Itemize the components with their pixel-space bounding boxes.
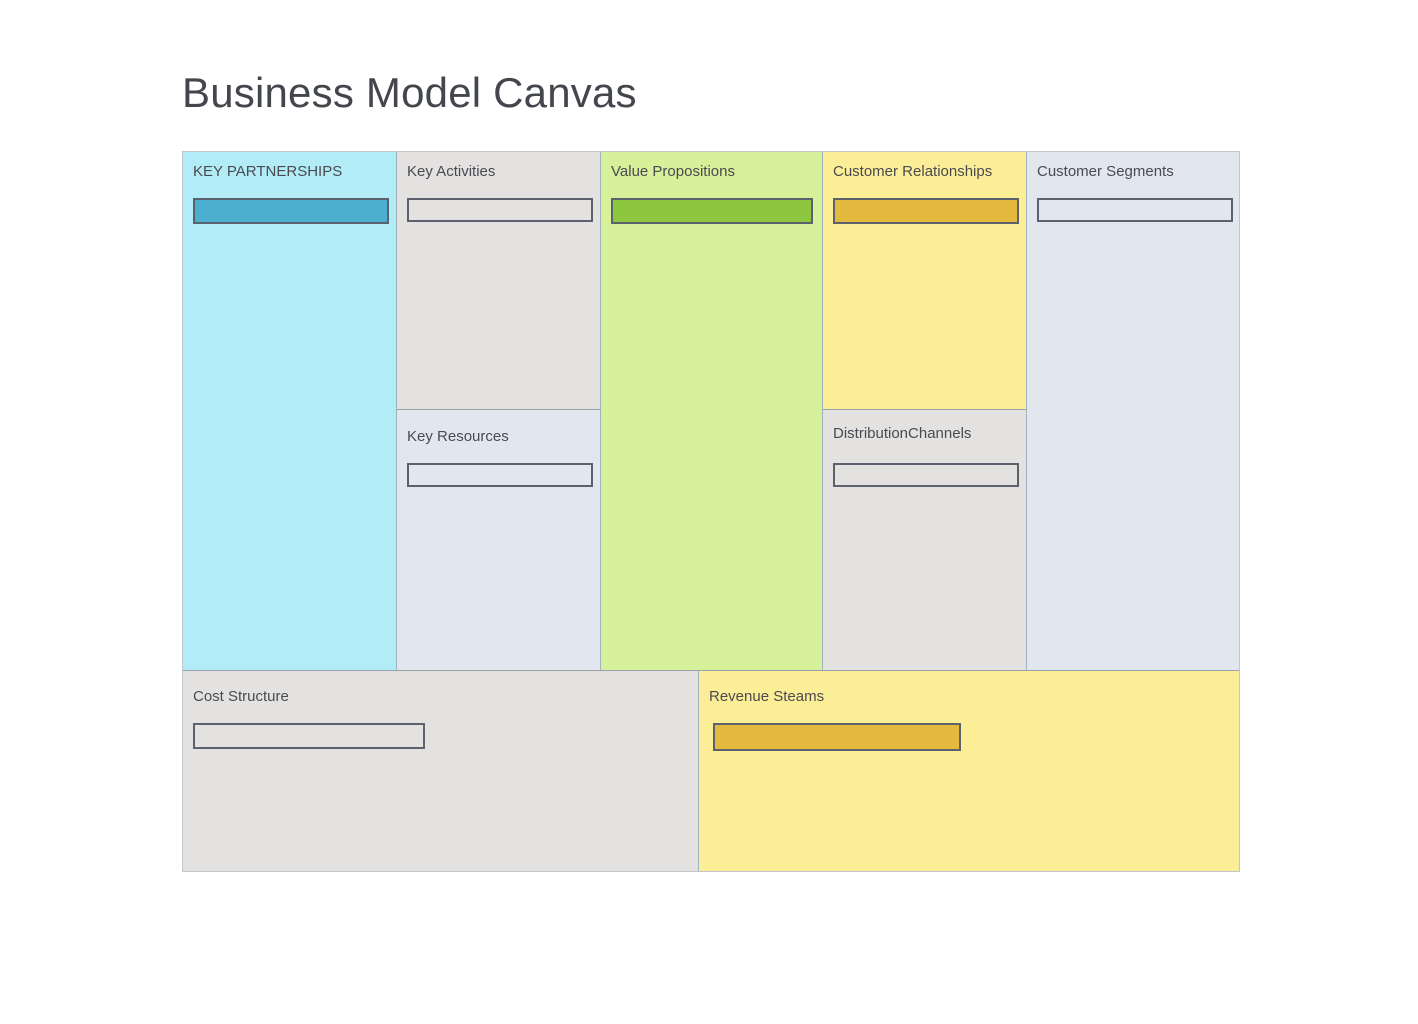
- swatch-key-activities[interactable]: [407, 198, 593, 222]
- panel-title-customer-relationships: Customer Relationships: [833, 164, 992, 179]
- panel-value-propositions[interactable]: Value Propositions: [601, 152, 823, 670]
- panel-key-resources[interactable]: Key Resources: [397, 410, 601, 670]
- swatch-customer-relationships[interactable]: [833, 198, 1019, 224]
- business-model-canvas: KEY PARTNERSHIPS Key Activities Key Reso…: [182, 151, 1240, 872]
- panel-title-value-propositions: Value Propositions: [611, 164, 735, 179]
- panel-title-cost-structure: Cost Structure: [193, 689, 289, 704]
- panel-cost-structure[interactable]: Cost Structure: [183, 670, 699, 871]
- swatch-revenue-steams[interactable]: [713, 723, 961, 751]
- panel-key-activities[interactable]: Key Activities: [397, 152, 601, 410]
- panel-key-partnerships[interactable]: KEY PARTNERSHIPS: [183, 152, 397, 670]
- panel-title-key-partnerships: KEY PARTNERSHIPS: [193, 164, 342, 179]
- swatch-cost-structure[interactable]: [193, 723, 425, 749]
- panel-title-key-activities: Key Activities: [407, 164, 495, 179]
- panel-title-revenue-steams: Revenue Steams: [709, 689, 824, 704]
- panel-title-distribution-channels: DistributionChannels: [833, 426, 971, 441]
- swatch-distribution-channels[interactable]: [833, 463, 1019, 487]
- panel-title-customer-segments: Customer Segments: [1037, 164, 1174, 179]
- panel-distribution-channels[interactable]: DistributionChannels: [823, 410, 1027, 670]
- page-title: Business Model Canvas: [182, 72, 637, 114]
- swatch-value-propositions[interactable]: [611, 198, 813, 224]
- panel-customer-segments[interactable]: Customer Segments: [1027, 152, 1239, 670]
- panel-revenue-steams[interactable]: Revenue Steams: [699, 670, 1239, 871]
- swatch-key-partnerships[interactable]: [193, 198, 389, 224]
- panel-title-key-resources: Key Resources: [407, 429, 509, 444]
- panel-customer-relationships[interactable]: Customer Relationships: [823, 152, 1027, 410]
- swatch-customer-segments[interactable]: [1037, 198, 1233, 222]
- swatch-key-resources[interactable]: [407, 463, 593, 487]
